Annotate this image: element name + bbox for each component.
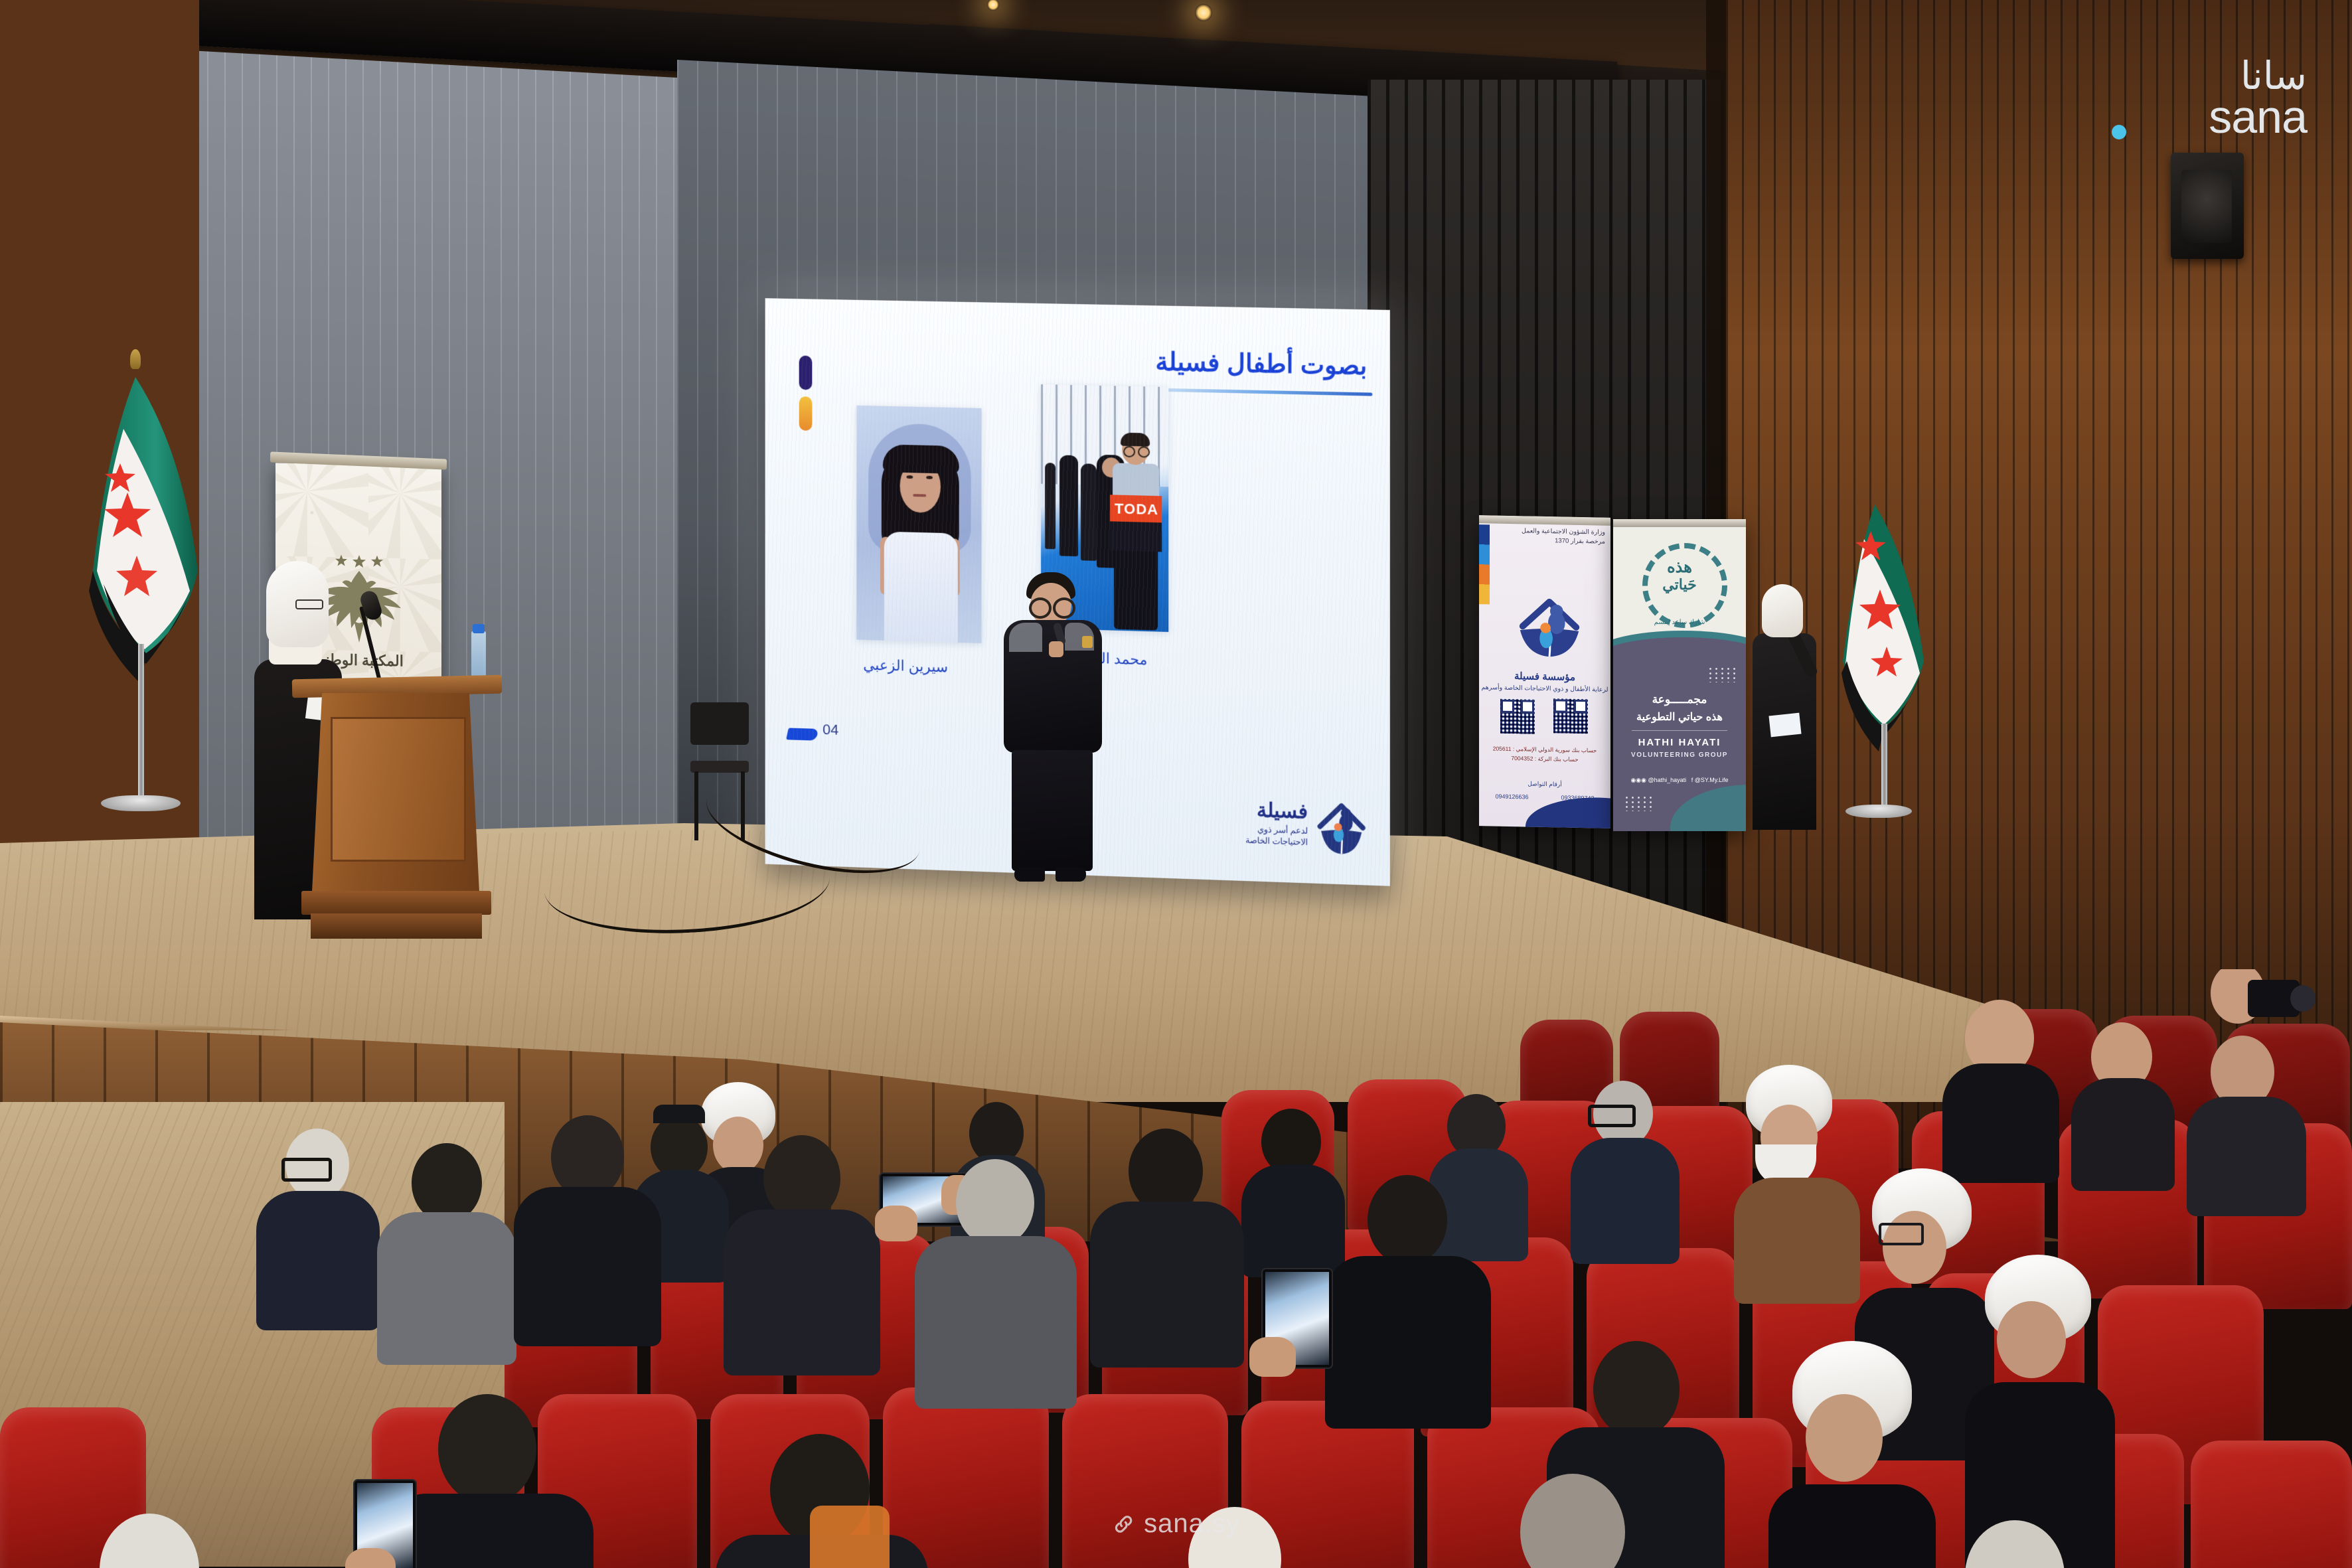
link-icon — [1112, 1513, 1135, 1535]
hathi-english-name: HATHI HAYATI — [1613, 737, 1746, 748]
audience-area — [0, 969, 2352, 1568]
hathi-main-line2: هذه حياتي التطوعية — [1613, 710, 1746, 724]
hathi-logo-line2: حَياتي — [1613, 576, 1746, 593]
rollup-fasila-header: وزارة الشؤون الاجتماعية والعمل مرخصة بقر… — [1522, 526, 1605, 547]
bottle-cap — [473, 624, 485, 633]
rollup-fasila-contact-label: أرقام التواصل — [1479, 779, 1610, 789]
rollup-fasila-subtitle: لرعاية الأطفال و ذوي الاحتياجات الخاصة و… — [1480, 684, 1609, 694]
audience-seat — [2191, 1441, 2352, 1568]
decor-bar-blue — [799, 355, 813, 390]
glasses-icon — [281, 1158, 332, 1182]
water-bottle — [471, 631, 486, 680]
glasses-icon — [1053, 597, 1075, 619]
sana-accent-dot — [2112, 125, 2126, 139]
sana-watermark-logo: سانا sana — [2108, 53, 2307, 133]
dot-grid-decor — [1707, 666, 1737, 682]
slide-photo-girl — [856, 406, 981, 643]
tshirt-text: TODA — [1115, 500, 1158, 518]
fasila-house-leaf-icon — [1313, 794, 1370, 858]
rollup-fasila-accounts: حساب بنك سورية الدولي الإسلامي : 205611 … — [1482, 744, 1608, 765]
banner-arc-decor — [1670, 785, 1746, 831]
glasses-icon — [1879, 1223, 1924, 1245]
wall-loudspeaker — [2171, 153, 2244, 259]
scarf — [810, 1506, 890, 1568]
fasila-house-leaf-icon — [1514, 590, 1585, 661]
cap-icon — [653, 1105, 705, 1123]
tshirt-band: TODA — [1110, 495, 1162, 522]
hathi-main-line1: مجمـــــوعة — [1613, 693, 1746, 706]
banner-swoosh — [1526, 796, 1610, 828]
hand — [1249, 1337, 1296, 1377]
held-card — [1768, 713, 1801, 738]
rollup-banner-fasila: وزارة الشؤون الاجتماعية والعمل مرخصة بقر… — [1479, 515, 1610, 828]
facebook-icon: f — [1688, 777, 1695, 783]
hathi-logo-line1: هذه — [1613, 558, 1746, 577]
dot-grid-decor — [1624, 795, 1653, 811]
syrian-independence-flag-icon — [66, 372, 218, 690]
sana-watermark-latin: sana — [2209, 90, 2307, 143]
caption-girl: سيرين الزعبي — [863, 657, 948, 676]
spotlight-icon — [1195, 4, 1212, 21]
qr-code — [1553, 698, 1588, 734]
glasses-icon — [295, 599, 323, 609]
sana-footer-watermark: sana.sy — [1112, 1509, 1240, 1539]
hathi-english-sub: VOLUNTEERING GROUP — [1613, 751, 1746, 759]
instagram-qr-code — [1500, 699, 1535, 734]
fasila-tagline: لدعم أسر ذوي الاحتياجات الخاصة — [1223, 823, 1308, 848]
color-stripe — [1479, 524, 1490, 604]
glasses-icon — [1588, 1105, 1636, 1127]
hand — [1049, 641, 1063, 657]
assistant-beside-banner — [1753, 584, 1826, 830]
rollup-fasila-name: مؤسسة فسيلة — [1479, 669, 1610, 684]
slide-number-bar — [786, 728, 819, 741]
fasila-logo: فسيلة لدعم أسر ذوي الاحتياجات الخاصة — [1221, 788, 1370, 864]
instagram-icon: ◉◉◉ — [1630, 777, 1648, 783]
hand — [875, 1206, 917, 1241]
syrian-independence-flag-icon — [1826, 505, 1938, 757]
sana-footer-url: sana.sy — [1144, 1509, 1240, 1539]
decor-bar-amber — [799, 396, 813, 431]
glasses-icon — [1029, 597, 1052, 619]
podium — [300, 677, 494, 943]
fasila-name: فسيلة — [1257, 799, 1308, 824]
photo-canvas: بصوت أطفال فسيلة TODA — [0, 0, 2352, 1568]
slide-title: بصوت أطفال فسيلة — [1155, 347, 1367, 381]
flag-left — [66, 372, 218, 690]
hathi-social-row: ◉◉◉ @hathi_hayati f @SY.My.Life — [1613, 777, 1746, 784]
flag-right — [1826, 505, 1938, 757]
slide-number: 04 — [823, 721, 838, 739]
presenter-boy — [992, 572, 1125, 891]
rollup-banner-hathi-hayati: هذه حَياتي شارك ساعد إبتسم مجمـــــوعة ه… — [1613, 519, 1746, 831]
hathi-logo-tagline: شارك ساعد إبتسم — [1613, 619, 1746, 626]
